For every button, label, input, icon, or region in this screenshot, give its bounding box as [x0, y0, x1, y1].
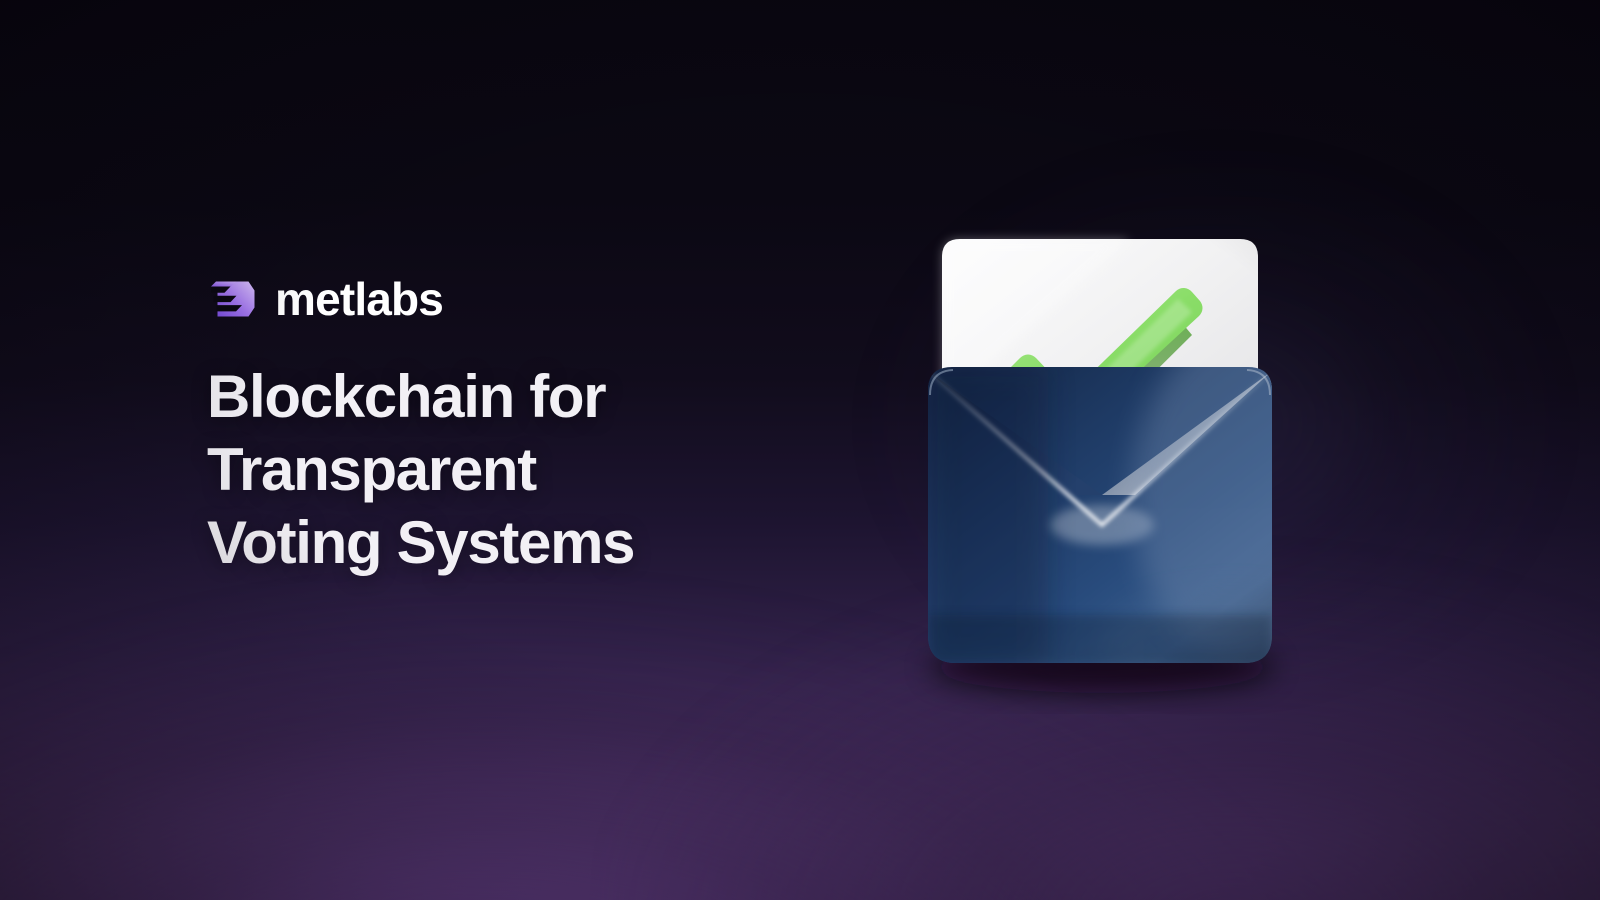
hero-banner: metlabs Blockchain for Transparent Votin… — [0, 0, 1600, 900]
hero-content: metlabs Blockchain for Transparent Votin… — [207, 272, 847, 579]
headline-line-2: Transparent — [207, 433, 847, 506]
headline-line-3: Voting Systems — [207, 506, 847, 579]
brand-name: metlabs — [275, 276, 443, 322]
envelope-check-icon — [880, 195, 1320, 695]
page-title: Blockchain for Transparent Voting System… — [207, 360, 847, 579]
metlabs-chevron-mark-icon — [207, 274, 257, 324]
brand-lockup: metlabs — [207, 272, 847, 326]
open-envelope-with-check-illustration — [880, 195, 1320, 695]
headline-line-1: Blockchain for — [207, 360, 847, 433]
envelope-body — [928, 325, 1372, 703]
